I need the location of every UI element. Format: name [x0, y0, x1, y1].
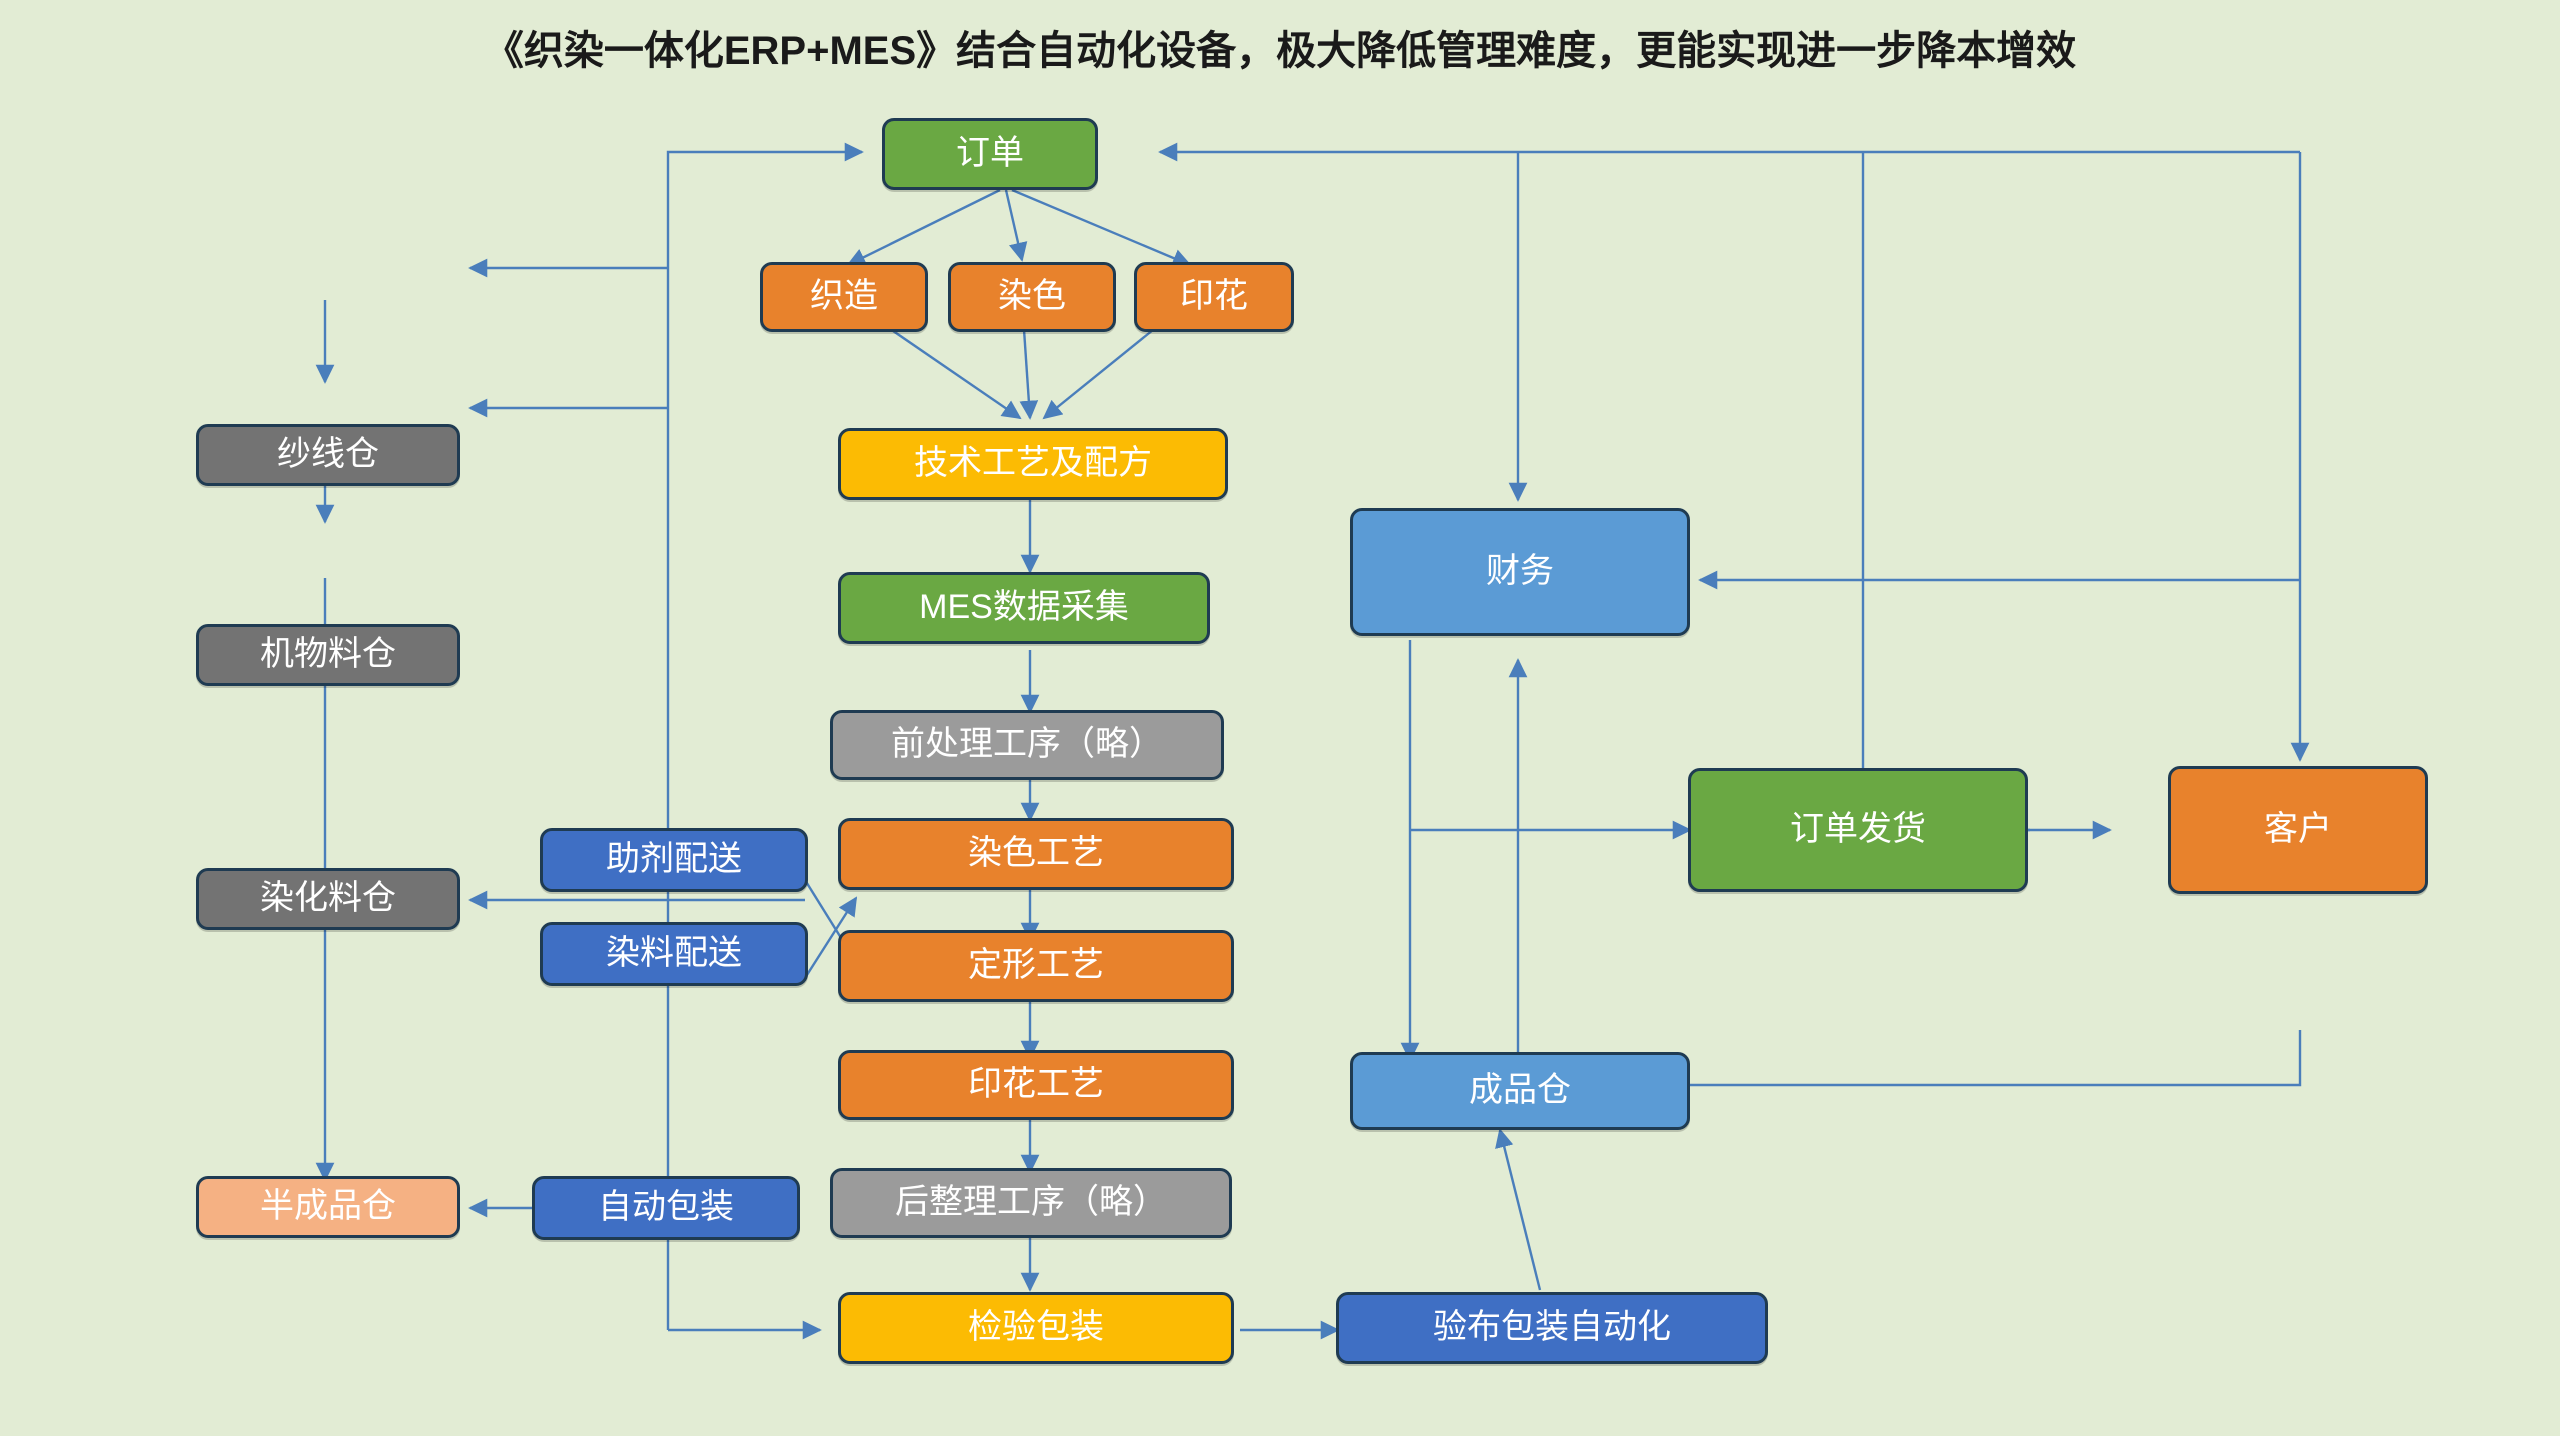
- node-machine-store[interactable]: 机物料仓: [196, 624, 460, 686]
- node-printing[interactable]: 印花: [1134, 262, 1294, 332]
- node-semi-store[interactable]: 半成品仓: [196, 1176, 460, 1238]
- node-aux-delivery[interactable]: 助剂配送: [540, 828, 808, 892]
- node-pretreatment[interactable]: 前处理工序（略）: [830, 710, 1224, 780]
- node-chemical-store[interactable]: 染化料仓: [196, 868, 460, 930]
- flowchart-canvas: 《织染一体化ERP+MES》结合自动化设备，极大降低管理难度，更能实现进一步降本…: [0, 0, 2560, 1436]
- node-dye-delivery[interactable]: 染料配送: [540, 922, 808, 986]
- node-finance[interactable]: 财务: [1350, 508, 1690, 636]
- wire-inspect-auto-to-finished-store: [1500, 1130, 1540, 1290]
- node-customer[interactable]: 客户: [2168, 766, 2428, 894]
- node-weaving[interactable]: 织造: [760, 262, 928, 332]
- wire-order-to-weaving: [848, 190, 1000, 265]
- node-inspect-auto[interactable]: 验布包装自动化: [1336, 1292, 1768, 1364]
- node-order[interactable]: 订单: [882, 118, 1098, 190]
- node-setting-process[interactable]: 定形工艺: [838, 930, 1234, 1002]
- node-print-process[interactable]: 印花工艺: [838, 1050, 1234, 1120]
- node-order-ship[interactable]: 订单发货: [1688, 768, 2028, 892]
- page-title: 《织染一体化ERP+MES》结合自动化设备，极大降低管理难度，更能实现进一步降本…: [0, 18, 2560, 76]
- node-mes-collect[interactable]: MES数据采集: [838, 572, 1210, 644]
- node-yarn-store[interactable]: 纱线仓: [196, 424, 460, 486]
- node-finished-store[interactable]: 成品仓: [1350, 1052, 1690, 1130]
- wire-order-to-printing: [1012, 190, 1190, 265]
- node-dyeing[interactable]: 染色: [948, 262, 1116, 332]
- node-auto-pack[interactable]: 自动包装: [532, 1176, 800, 1240]
- node-dye-process[interactable]: 染色工艺: [838, 818, 1234, 890]
- node-tech-recipe[interactable]: 技术工艺及配方: [838, 428, 1228, 500]
- wire-order-to-dyeing: [1006, 190, 1022, 260]
- node-post-finishing[interactable]: 后整理工序（略）: [830, 1168, 1232, 1238]
- node-inspect-pack[interactable]: 检验包装: [838, 1292, 1234, 1364]
